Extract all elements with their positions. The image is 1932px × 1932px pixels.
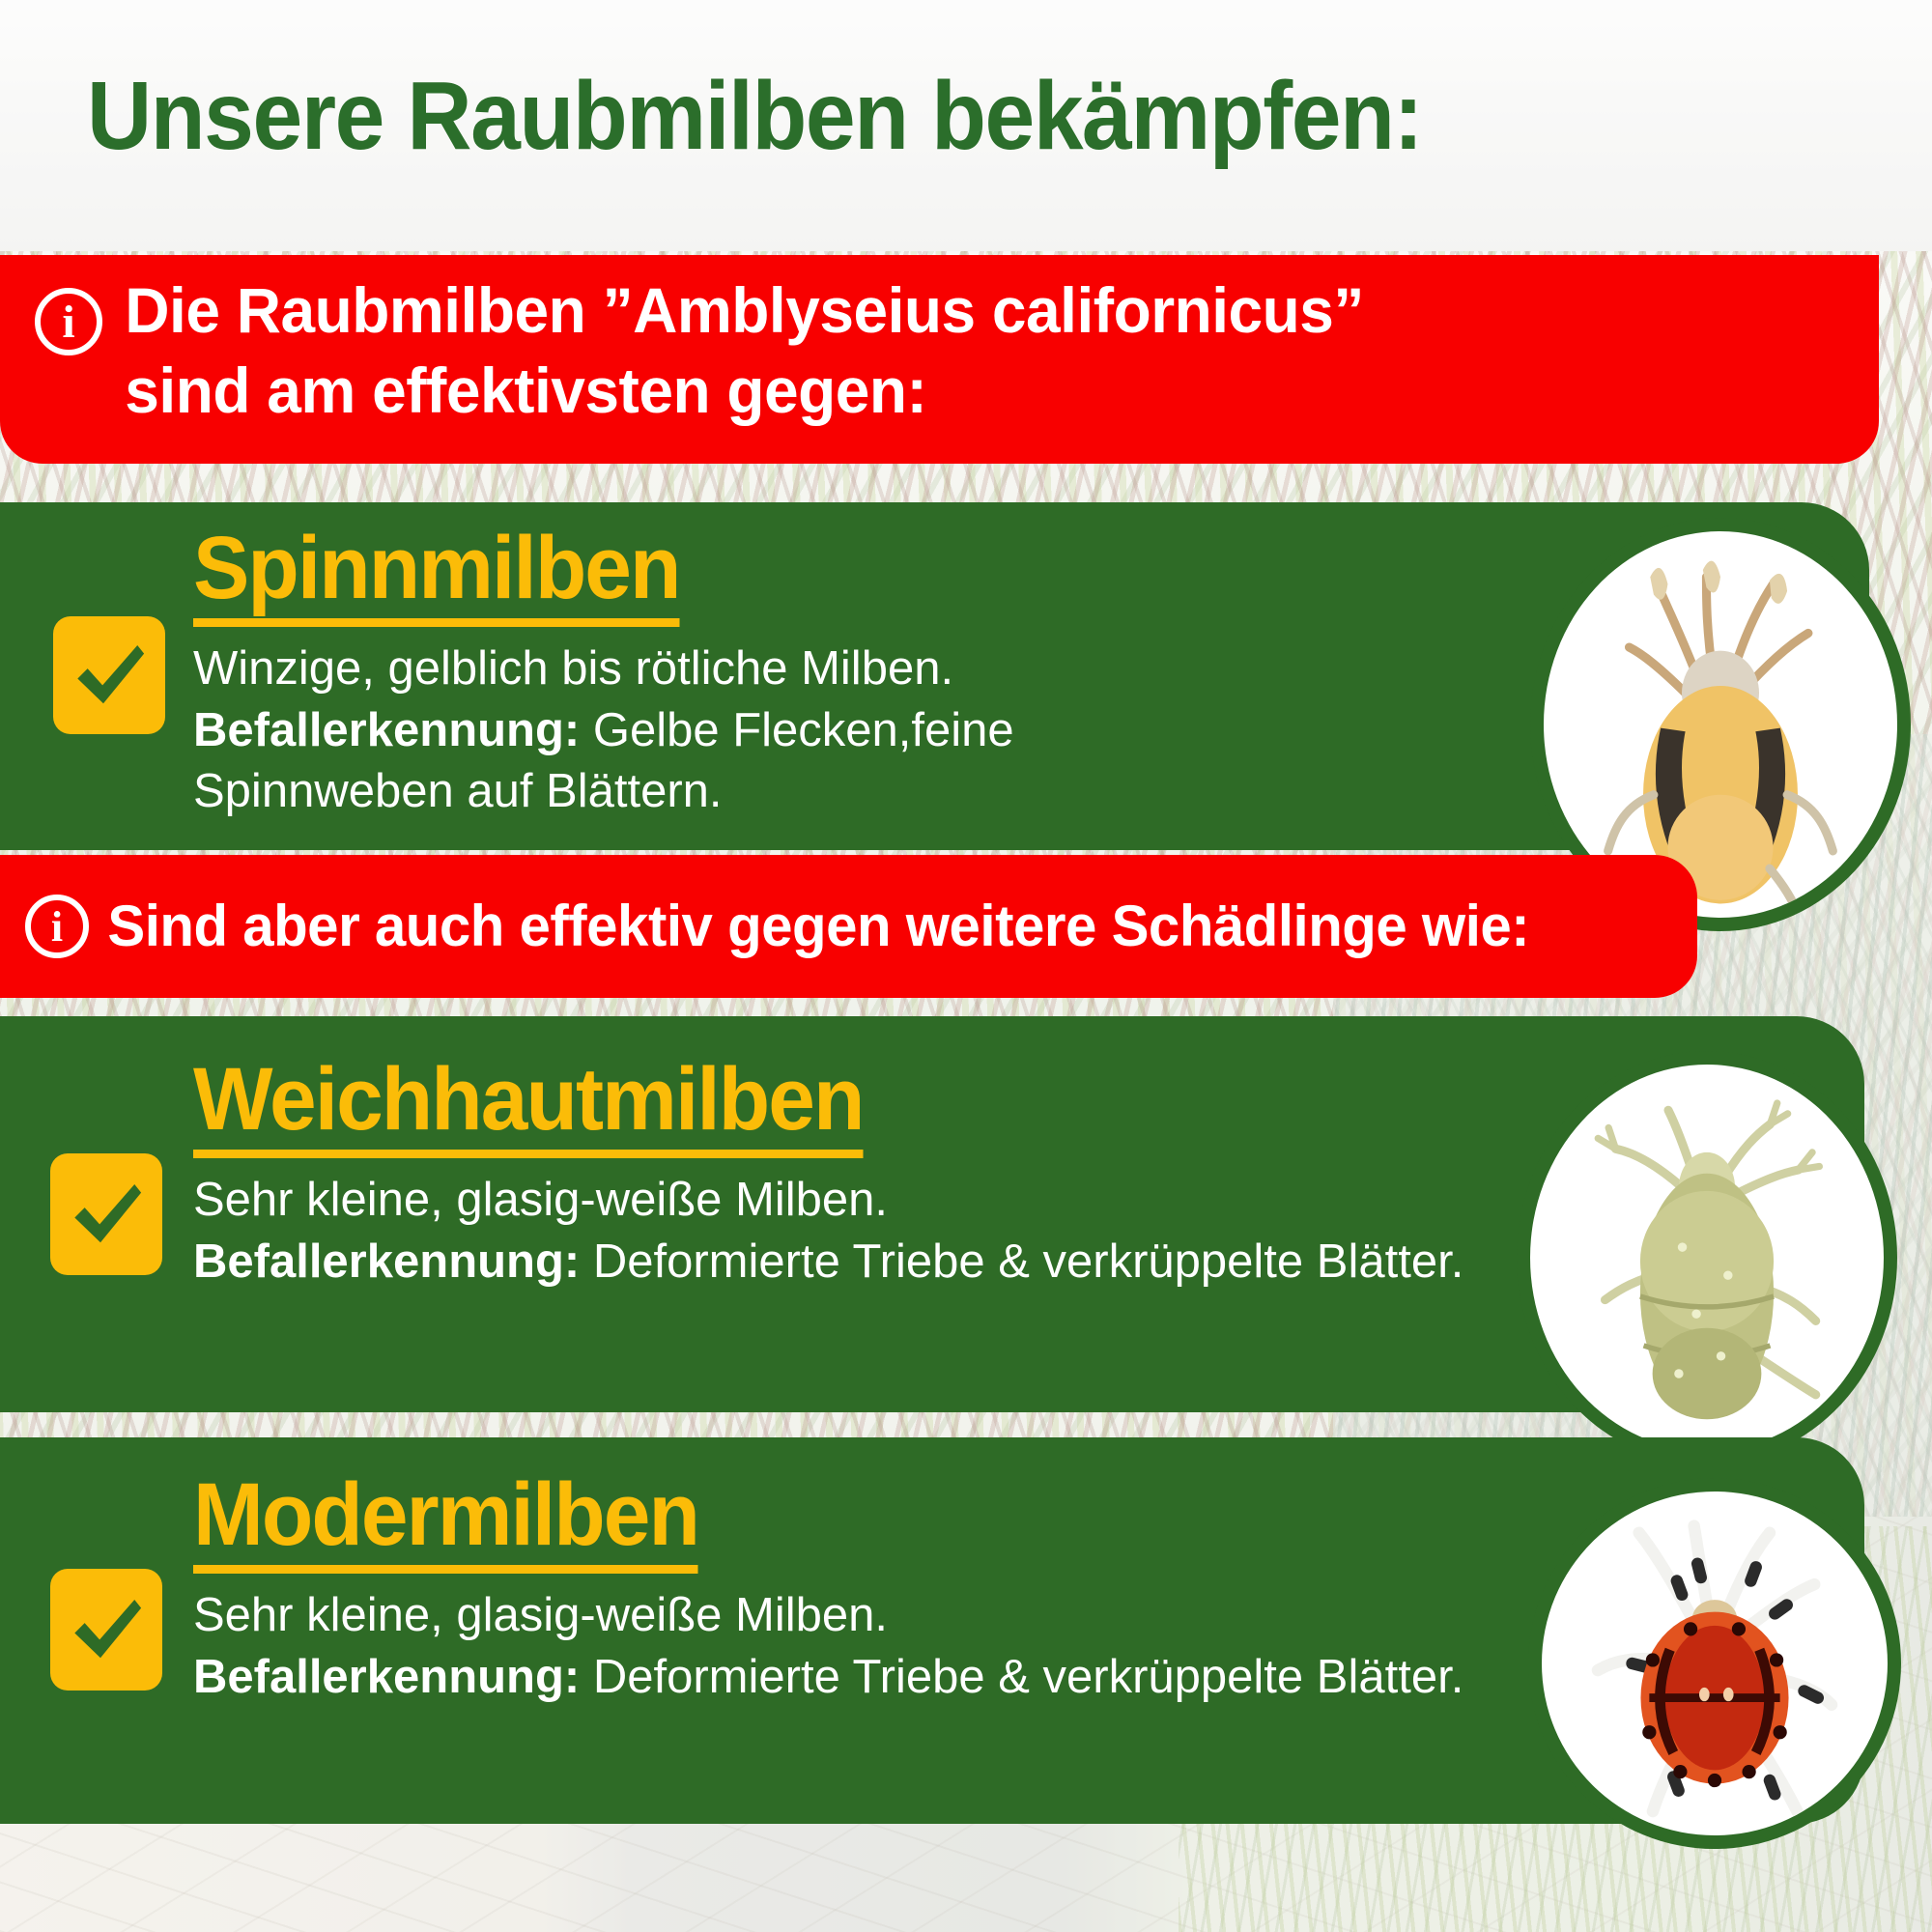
checkmark-box xyxy=(50,1153,162,1275)
pest-description: Sehr kleine, glasig-weiße Milben. xyxy=(193,1170,1526,1232)
info-circle-icon: i xyxy=(35,288,102,355)
info-banner-primary-text: Die Raubmilben ”Amblyseius californicus”… xyxy=(102,255,1364,431)
red-mite-photo xyxy=(1528,1478,1901,1849)
pest-card-title: Weichhautmilben xyxy=(193,1055,863,1158)
infographic-root: Unsere Raubmilben bekämpfen: i Die Raubm… xyxy=(0,0,1932,1932)
red-mite-illustration xyxy=(1542,1492,1888,1835)
checkmark-icon xyxy=(65,1588,148,1671)
pest-card-lines: Sehr kleine, glasig-weiße Milben. Befall… xyxy=(193,1585,1526,1708)
banner-line-1: Die Raubmilben ”Amblyseius californicus” xyxy=(125,270,1364,351)
checkmark-icon xyxy=(65,1173,148,1256)
pest-card-title: Modermilben xyxy=(193,1470,698,1574)
info-banner-secondary-text: Sind aber auch effektiv gegen weitere Sc… xyxy=(89,897,1529,955)
pest-detection: Befallerkennung: Deformierte Triebe & ve… xyxy=(193,1647,1526,1709)
banner-line-2: sind am effektivsten gegen: xyxy=(125,351,1364,431)
checkmark-box xyxy=(50,1569,162,1690)
checkmark-box xyxy=(53,616,165,734)
checkmark-icon xyxy=(68,634,151,717)
page-title: Unsere Raubmilben bekämpfen: xyxy=(87,64,1422,168)
pest-card-lines: Sehr kleine, glasig-weiße Milben. Befall… xyxy=(193,1170,1526,1293)
pest-description: Winzige, gelblich bis rötliche Milben. xyxy=(193,639,1256,700)
detection-label: Befallerkennung: xyxy=(193,704,580,756)
broad-mite-illustration xyxy=(1530,1065,1884,1451)
detection-text: Deformierte Triebe & verkrüppelte Blätte… xyxy=(593,1651,1463,1703)
detection-label: Befallerkennung: xyxy=(193,1236,580,1288)
info-banner-secondary: i Sind aber auch effektiv gegen weitere … xyxy=(0,855,1697,998)
pest-card-lines: Winzige, gelblich bis rötliche Milben. B… xyxy=(193,639,1256,823)
pest-card-title: Spinnmilben xyxy=(193,524,680,627)
broad-mite-photo xyxy=(1517,1051,1897,1464)
pest-description: Sehr kleine, glasig-weiße Milben. xyxy=(193,1585,1526,1647)
pest-detection: Befallerkennung: Gelbe Flecken,feine Spi… xyxy=(193,700,1256,823)
detection-label: Befallerkennung: xyxy=(193,1651,580,1703)
detection-text: Deformierte Triebe & verkrüppelte Blätte… xyxy=(593,1236,1463,1288)
info-banner-primary: i Die Raubmilben ”Amblyseius californicu… xyxy=(0,255,1879,464)
pest-detection: Befallerkennung: Deformierte Triebe & ve… xyxy=(193,1232,1526,1293)
info-circle-icon: i xyxy=(25,895,89,958)
